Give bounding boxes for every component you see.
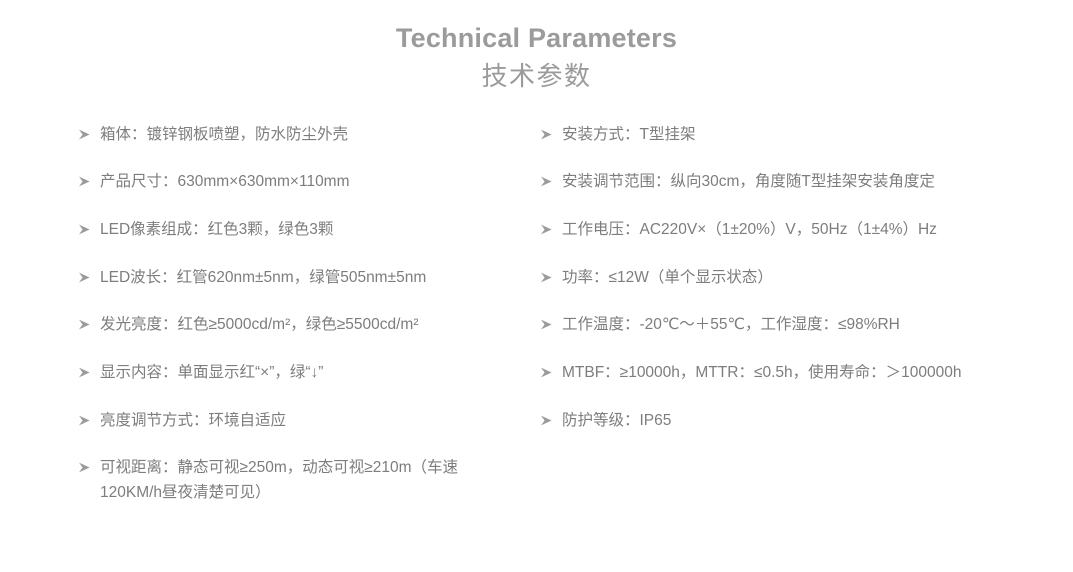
spec-item: LED波长：红管620nm±5nm，绿管505nm±5nm [78,265,530,290]
arrowhead-right-icon [78,455,100,473]
spec-item: 可视距离：静态可视≥250m，动态可视≥210m（车速120KM/h昼夜清楚可见… [78,455,530,505]
spec-item-text: 安装方式：T型挂架 [562,122,972,147]
spec-item: 产品尺寸：630mm×630mm×110mm [78,169,530,194]
spec-item-text: 安装调节范围：纵向30cm，角度随T型挂架安装角度定 [562,169,972,194]
specifications-right-column: 安装方式：T型挂架 安装调节范围：纵向30cm，角度随T型挂架安装角度定 工作电… [540,122,1073,433]
spec-item-text: 工作温度：-20℃～＋55℃，工作湿度：≤98%RH [562,312,972,337]
spec-item-text: 可视距离：静态可视≥250m，动态可视≥210m（车速120KM/h昼夜清楚可见… [100,455,512,505]
arrowhead-right-icon [78,312,100,330]
spec-item-text: MTBF：≥10000h，MTTR：≤0.5h，使用寿命：＞100000h [562,360,972,385]
arrowhead-right-icon [540,360,562,378]
spec-item-text: 功率：≤12W（单个显示状态） [562,265,972,290]
spec-item: 发光亮度：红色≥5000cd/m²，绿色≥5500cd/m² [78,312,530,337]
page-title-chinese: 技术参数 [0,59,1073,94]
spec-item: 亮度调节方式：环境自适应 [78,408,530,433]
arrowhead-right-icon [540,312,562,330]
spec-list-left: 箱体：镀锌钢板喷塑，防水防尘外壳 产品尺寸：630mm×630mm×110mm … [78,122,530,505]
spec-item: 安装方式：T型挂架 [540,122,1033,147]
technical-parameters-page: Technical Parameters 技术参数 箱体：镀锌钢板喷塑，防水防尘… [0,0,1073,572]
spec-item: 防护等级：IP65 [540,408,1033,433]
arrowhead-right-icon [540,169,562,187]
page-title-english: Technical Parameters [0,22,1073,56]
spec-item: 箱体：镀锌钢板喷塑，防水防尘外壳 [78,122,530,147]
spec-item-text: 发光亮度：红色≥5000cd/m²，绿色≥5500cd/m² [100,312,512,337]
spec-item: MTBF：≥10000h，MTTR：≤0.5h，使用寿命：＞100000h [540,360,1033,385]
page-heading: Technical Parameters 技术参数 [0,0,1073,94]
arrowhead-right-icon [540,408,562,426]
spec-item-text: LED像素组成：红色3颗，绿色3颗 [100,217,512,242]
spec-list-right: 安装方式：T型挂架 安装调节范围：纵向30cm，角度随T型挂架安装角度定 工作电… [540,122,1033,433]
arrowhead-right-icon [78,169,100,187]
spec-item-text: 产品尺寸：630mm×630mm×110mm [100,169,512,194]
spec-item-text: 显示内容：单面显示红“×”，绿“↓” [100,360,512,385]
arrowhead-right-icon [78,122,100,140]
specifications-left-column: 箱体：镀锌钢板喷塑，防水防尘外壳 产品尺寸：630mm×630mm×110mm … [0,122,540,505]
spec-item-text: 箱体：镀锌钢板喷塑，防水防尘外壳 [100,122,512,147]
spec-item: 工作电压：AC220V×（1±20%）V，50Hz（1±4%）Hz [540,217,1033,242]
arrowhead-right-icon [78,360,100,378]
spec-item-text: 工作电压：AC220V×（1±20%）V，50Hz（1±4%）Hz [562,217,972,242]
arrowhead-right-icon [78,217,100,235]
arrowhead-right-icon [78,265,100,283]
spec-item-text: LED波长：红管620nm±5nm，绿管505nm±5nm [100,265,512,290]
spec-item: 工作温度：-20℃～＋55℃，工作湿度：≤98%RH [540,312,1033,337]
spec-item: 功率：≤12W（单个显示状态） [540,265,1033,290]
spec-item: 安装调节范围：纵向30cm，角度随T型挂架安装角度定 [540,169,1033,194]
specifications-columns: 箱体：镀锌钢板喷塑，防水防尘外壳 产品尺寸：630mm×630mm×110mm … [0,94,1073,505]
arrowhead-right-icon [540,265,562,283]
arrowhead-right-icon [540,217,562,235]
spec-item: 显示内容：单面显示红“×”，绿“↓” [78,360,530,385]
arrowhead-right-icon [78,408,100,426]
arrowhead-right-icon [540,122,562,140]
spec-item: LED像素组成：红色3颗，绿色3颗 [78,217,530,242]
spec-item-text: 亮度调节方式：环境自适应 [100,408,512,433]
spec-item-text: 防护等级：IP65 [562,408,972,433]
